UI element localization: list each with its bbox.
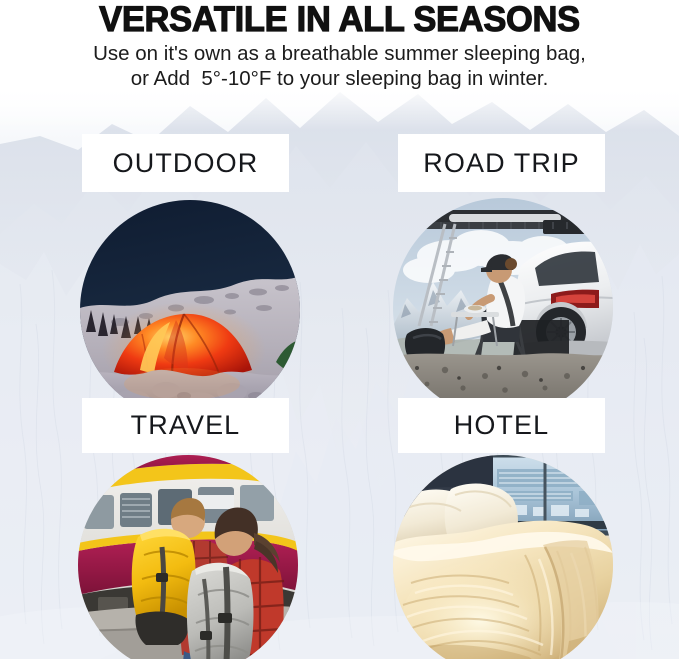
cell-label-road-trip: ROAD TRIP (423, 150, 579, 177)
subtitle-line-2: or Add 5°-10°F to your sleeping bag in w… (0, 66, 679, 91)
page-title: VERSATILE IN ALL SEASONS (5, 2, 674, 38)
camper-beside-white-car-with-roof-rack-photo (393, 198, 613, 418)
cell-label-hotel: HOTEL (454, 412, 550, 439)
cell-label-outdoor: OUTDOOR (113, 150, 259, 177)
red-tent-on-snow-at-night-photo (80, 200, 300, 420)
backpackers-boarding-train-photo (78, 455, 298, 659)
label-box-outdoor: OUTDOOR (82, 134, 289, 192)
label-box-travel: TRAVEL (82, 398, 289, 453)
label-box-hotel: HOTEL (398, 398, 605, 453)
poster-header: VERSATILE IN ALL SEASONS Use on it's own… (0, 0, 679, 91)
cell-label-travel: TRAVEL (131, 412, 241, 439)
subtitle-line-1: Use on it's own as a breathable summer s… (0, 41, 679, 66)
hotel-bed-with-cream-duvet-photo (393, 455, 613, 659)
label-box-road-trip: ROAD TRIP (398, 134, 605, 192)
versatile-in-all-seasons-poster: VERSATILE IN ALL SEASONS Use on it's own… (0, 0, 679, 659)
